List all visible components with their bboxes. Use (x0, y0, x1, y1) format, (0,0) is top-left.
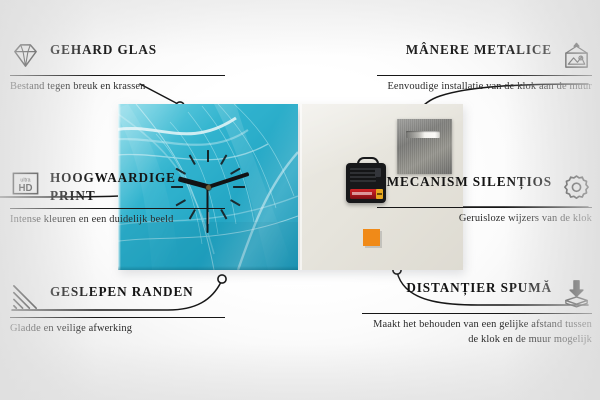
feature-description: Bestand tegen breuk en krassen (10, 80, 225, 94)
feature-geslepen-randen: GESLEPEN RANDEN Gladde en veilige afwerk… (10, 282, 225, 337)
feature-header: ultra HD HOOGWAARDIGE PRINT (10, 168, 225, 204)
feature-title: DISTANȚIER SPUMĂ (406, 278, 552, 297)
feature-header: GESLEPEN RANDEN (10, 282, 225, 313)
ultra-hd-icon: ultra HD (10, 168, 41, 199)
panel-seam (300, 104, 302, 270)
feature-divider (10, 75, 225, 76)
feature-header: MECANISM SILENȚIOS (377, 172, 592, 203)
feature-divider (362, 313, 592, 314)
svg-text:HD: HD (19, 183, 33, 194)
feature-gehard-glas: GEHARD GLAS Bestand tegen breuk en krass… (10, 40, 225, 95)
feature-distantier-spuma: DISTANȚIER SPUMĂ Maakt het behouden van … (362, 278, 592, 347)
feature-description: Intense kleuren en een duidelijk beeld (10, 213, 225, 227)
feature-title: MÂNERE METALICE (406, 40, 552, 59)
feature-mecanism-silentios: MECANISM SILENȚIOS Geruisloze wijzers va… (377, 172, 592, 227)
gear-icon (561, 172, 592, 203)
feature-title: GESLEPEN RANDEN (50, 282, 194, 301)
feature-manere-metalice: MÂNERE METALICE Eenvoudige installatie v… (377, 40, 592, 95)
feature-title: MECANISM SILENȚIOS (387, 172, 552, 191)
wall-mount-picture-icon (561, 40, 592, 71)
feature-title: GEHARD GLAS (50, 40, 157, 59)
glass-edge-bottom (118, 266, 298, 270)
feature-header: GEHARD GLAS (10, 40, 225, 71)
feature-header: DISTANȚIER SPUMĂ (362, 278, 592, 309)
feature-description: Gladde en veilige afwerking (10, 322, 225, 336)
feature-description: Eenvoudige installatie van de klok aan d… (377, 80, 592, 94)
feature-divider (377, 75, 592, 76)
foam-spacer-arrow-icon (561, 278, 592, 309)
feature-divider (377, 207, 592, 208)
feature-description: Geruisloze wijzers van de klok (377, 212, 592, 226)
feature-divider (10, 208, 225, 209)
infographic-canvas: GEHARD GLAS Bestand tegen breuk en krass… (0, 0, 600, 400)
feature-header: MÂNERE METALICE (377, 40, 592, 71)
feature-hoogwaardige-print: ultra HD HOOGWAARDIGE PRINT Intense kleu… (10, 168, 225, 228)
feature-title: HOOGWAARDIGE PRINT (50, 168, 225, 204)
feature-description: Maakt het behouden van een gelijke afsta… (362, 318, 592, 347)
feature-divider (10, 317, 225, 318)
diamond-icon (10, 40, 41, 71)
beveled-edges-icon (10, 282, 41, 313)
